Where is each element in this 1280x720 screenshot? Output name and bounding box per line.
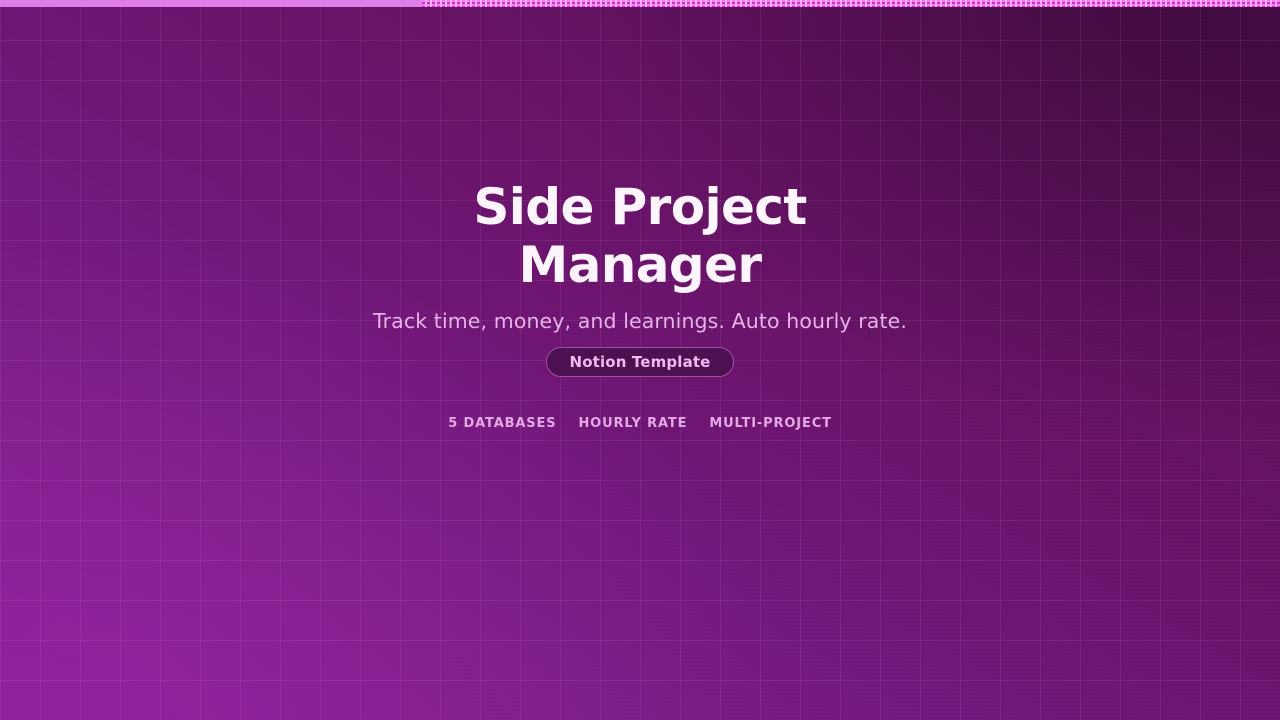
feature-tag-databases: 5 Databases xyxy=(448,416,556,431)
hero-section: Side Project Manager Track time, money, … xyxy=(0,0,1280,720)
page-title-line-2: Manager xyxy=(519,236,762,294)
page-title-line-1: Side Project xyxy=(473,178,806,236)
page-stage: Side Project Manager Track time, money, … xyxy=(0,0,1280,720)
page-subtitle: Track time, money, and learnings. Auto h… xyxy=(373,308,907,334)
feature-tag-hourly-rate: Hourly Rate xyxy=(578,416,687,431)
feature-tag-multi-project: Multi-Project xyxy=(709,416,832,431)
notion-template-badge[interactable]: Notion Template xyxy=(546,347,733,377)
page-load-progress-bar xyxy=(0,0,1280,7)
progress-fill xyxy=(0,0,422,7)
feature-tag-list: 5 Databases Hourly Rate Multi-Project xyxy=(448,416,832,431)
page-title: Side Project Manager xyxy=(320,178,960,294)
